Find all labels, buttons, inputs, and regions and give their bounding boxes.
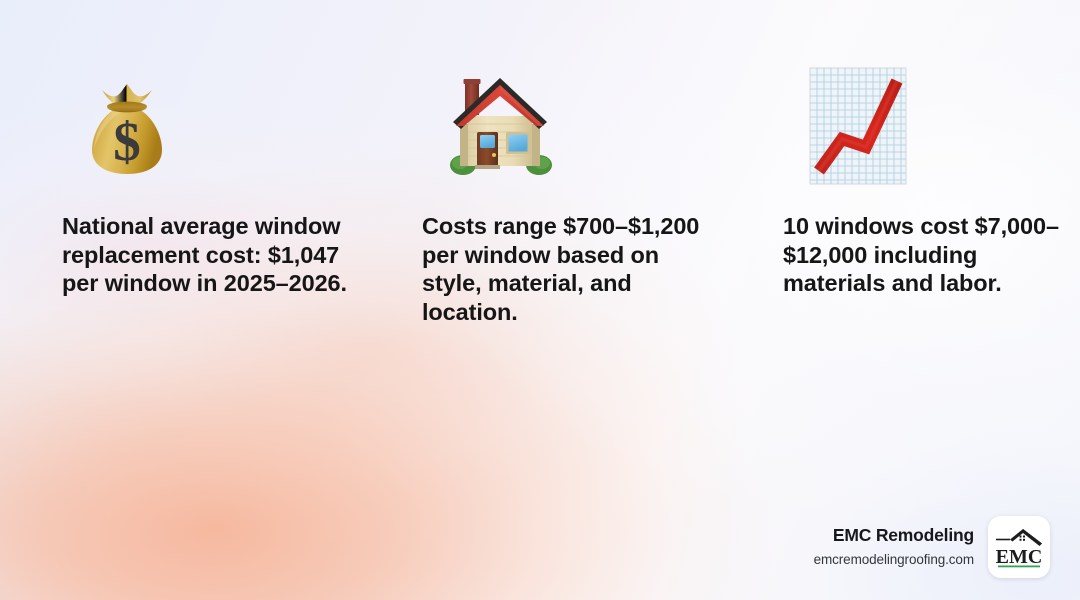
stat-columns: $ National average window replacement co… xyxy=(0,0,1080,600)
chart-increasing-icon xyxy=(809,62,1063,190)
brand-logo-text: EMC xyxy=(996,546,1043,568)
money-bag-icon: $ xyxy=(88,62,362,190)
brand-block[interactable]: EMC Remodeling emcremodelingroofing.com … xyxy=(814,516,1050,578)
brand-url[interactable]: emcremodelingroofing.com xyxy=(814,551,974,568)
svg-text:$: $ xyxy=(113,111,141,172)
house-roof-icon xyxy=(996,529,1042,546)
house-icon xyxy=(448,62,722,190)
brand-logo[interactable]: EMC xyxy=(988,516,1050,578)
stat-text-3: 10 windows cost $7,000–$12,000 including… xyxy=(783,212,1063,298)
stat-text-1: National average window replacement cost… xyxy=(62,212,362,298)
infographic-canvas: $ National average window replacement co… xyxy=(0,0,1080,600)
brand-logo-underline xyxy=(998,566,1040,568)
stat-text-2: Costs range $700–$1,200 per window based… xyxy=(422,212,722,326)
brand-name: EMC Remodeling xyxy=(814,524,974,546)
brand-text: EMC Remodeling emcremodelingroofing.com xyxy=(814,524,974,570)
stat-column-2: Costs range $700–$1,200 per window based… xyxy=(422,62,722,326)
stat-column-3: 10 windows cost $7,000–$12,000 including… xyxy=(783,62,1063,298)
stat-column-1: $ National average window replacement co… xyxy=(62,62,362,298)
